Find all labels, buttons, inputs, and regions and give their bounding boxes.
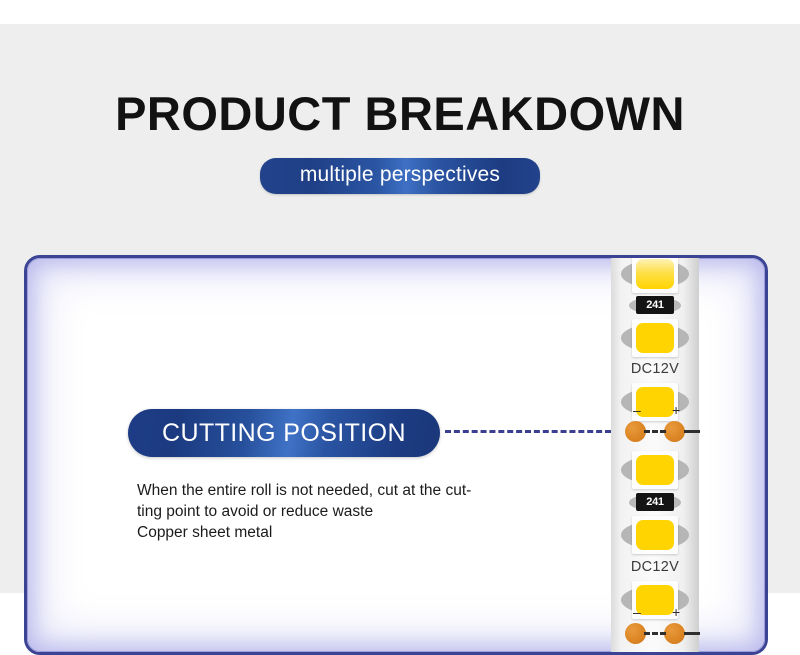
- callout-description: When the entire roll is not needed, cut …: [137, 480, 557, 543]
- polarity-minus-label: –: [633, 605, 641, 619]
- cut-point-pads: –+: [611, 416, 699, 446]
- polarity-minus-label: –: [633, 403, 641, 417]
- led-phosphor: [636, 520, 674, 550]
- polarity-plus-label: +: [672, 605, 680, 619]
- solder-pad-plus: [664, 623, 685, 644]
- solder-pad-plus: [664, 421, 685, 442]
- led-chip: [611, 316, 699, 360]
- solder-pad-minus: [625, 421, 646, 442]
- led-chip: [611, 578, 699, 622]
- led-phosphor: [636, 259, 674, 289]
- resistor-component: 241: [611, 492, 699, 512]
- cutting-position-badge[interactable]: CUTTING POSITION: [128, 409, 440, 457]
- led-strip-image: 241DC12V–+241DC12V–+: [611, 258, 699, 655]
- solder-pad-minus: [625, 623, 646, 644]
- led-chip: [611, 255, 699, 296]
- page-title: PRODUCT BREAKDOWN: [0, 90, 800, 137]
- header: PRODUCT BREAKDOWN multiple perspectives: [0, 90, 800, 194]
- callout-leader-line: [445, 430, 611, 433]
- resistor-component: 241: [611, 295, 699, 315]
- page-root: PRODUCT BREAKDOWN multiple perspectives …: [0, 0, 800, 593]
- resistor-label: 241: [636, 296, 674, 314]
- cut-line: [644, 632, 666, 635]
- cut-line: [644, 430, 666, 433]
- trace-right: [684, 430, 700, 433]
- led-chip: [611, 448, 699, 492]
- cut-point-pads: –+: [611, 618, 699, 648]
- led-phosphor: [636, 323, 674, 353]
- led-phosphor: [636, 455, 674, 485]
- voltage-label: DC12V: [611, 358, 699, 380]
- voltage-label: DC12V: [611, 556, 699, 578]
- led-phosphor: [636, 585, 674, 615]
- resistor-label: 241: [636, 493, 674, 511]
- led-chip: [611, 513, 699, 557]
- trace-right: [684, 632, 700, 635]
- product-card: CUTTING POSITION When the entire roll is…: [24, 255, 768, 655]
- led-phosphor: [636, 387, 674, 417]
- polarity-plus-label: +: [672, 403, 680, 417]
- subtitle-pill: multiple perspectives: [260, 158, 540, 194]
